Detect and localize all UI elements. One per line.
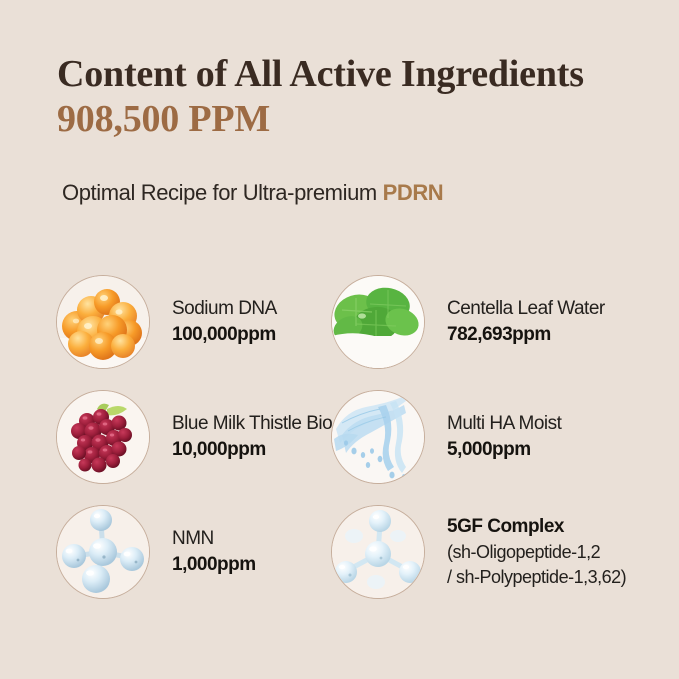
- ingredient-name: Sodium DNA: [172, 296, 277, 322]
- ingredient-labels: Multi HA Moist 5,000ppm: [447, 411, 561, 463]
- page-title: Content of All Active Ingredients: [57, 52, 637, 97]
- ingredient-labels: Blue Milk Thistle Bio 10,000ppm: [172, 411, 332, 463]
- ingredient-infographic: Content of All Active Ingredients 908,50…: [0, 0, 679, 679]
- ingredient-labels: 5GF Complex (sh-Oligopeptide-1,2 / sh-Po…: [447, 514, 626, 590]
- ingredient-amount: 10,000ppm: [172, 437, 332, 463]
- ingredient-item-5gf-complex: 5GF Complex (sh-Oligopeptide-1,2 / sh-Po…: [331, 502, 626, 602]
- centella-leaf-icon: [331, 275, 425, 369]
- ingredient-item-blue-milk-thistle-bio: Blue Milk Thistle Bio 10,000ppm: [56, 387, 332, 487]
- ingredient-row: NMN 1,000ppm: [0, 502, 679, 617]
- subtitle-accent-pdrn: PDRN: [383, 180, 444, 205]
- ingredient-item-centella-leaf-water: Centella Leaf Water 782,693ppm: [331, 272, 605, 372]
- ingredient-amount: 5,000ppm: [447, 437, 561, 463]
- ingredient-item-multi-ha-moist: Multi HA Moist 5,000ppm: [331, 387, 561, 487]
- subtitle-prefix: Optimal Recipe for Ultra-premium: [62, 180, 383, 205]
- ingredient-name: Blue Milk Thistle Bio: [172, 411, 332, 437]
- ingredient-labels: NMN 1,000ppm: [172, 526, 256, 578]
- ingredient-sub-line2: / sh-Polypeptide-1,3,62): [447, 565, 626, 590]
- salmon-roe-icon: [56, 275, 150, 369]
- ingredient-name: Centella Leaf Water: [447, 296, 605, 322]
- milk-thistle-berries-icon: [56, 390, 150, 484]
- ingredient-row: Blue Milk Thistle Bio 10,000ppm: [0, 387, 679, 502]
- ingredient-item-sodium-dna: Sodium DNA 100,000ppm: [56, 272, 277, 372]
- subtitle: Optimal Recipe for Ultra-premium PDRN: [62, 178, 443, 208]
- ingredient-name: Multi HA Moist: [447, 411, 561, 437]
- ingredient-name: 5GF Complex: [447, 514, 626, 540]
- molecule-cross-icon: [56, 505, 150, 599]
- ingredient-labels: Centella Leaf Water 782,693ppm: [447, 296, 605, 348]
- ingredient-amount: 100,000ppm: [172, 322, 277, 348]
- ingredient-labels: Sodium DNA 100,000ppm: [172, 296, 277, 348]
- ingredient-amount: 782,693ppm: [447, 322, 605, 348]
- ingredient-row: Sodium DNA 100,000ppm: [0, 272, 679, 387]
- ingredient-item-nmn: NMN 1,000ppm: [56, 502, 256, 602]
- header-block: Content of All Active Ingredients 908,50…: [57, 52, 637, 141]
- ingredient-grid: Sodium DNA 100,000ppm: [0, 272, 679, 617]
- total-ppm-value: 908,500 PPM: [57, 97, 637, 141]
- molecule-tri-icon: [331, 505, 425, 599]
- water-splash-icon: [331, 390, 425, 484]
- ingredient-amount: 1,000ppm: [172, 552, 256, 578]
- ingredient-name: NMN: [172, 526, 256, 552]
- ingredient-sub-line1: (sh-Oligopeptide-1,2: [447, 540, 626, 565]
